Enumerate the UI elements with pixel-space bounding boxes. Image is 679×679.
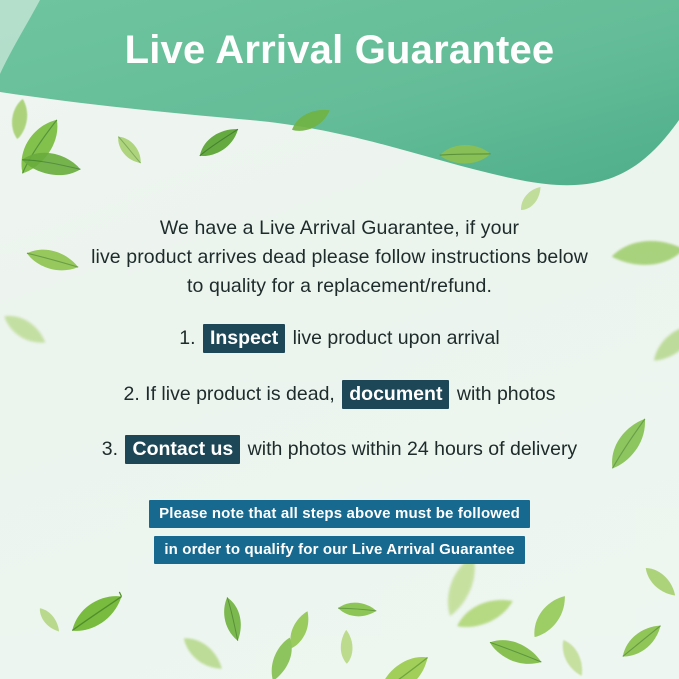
- step-1-after: live product upon arrival: [293, 327, 500, 349]
- step-3-after: with photos within 24 hours of delivery: [248, 438, 578, 460]
- intro-line-2: live product arrives dead please follow …: [60, 243, 619, 272]
- step-3-highlight: Contact us: [125, 435, 240, 464]
- step-1-number: 1.: [179, 327, 195, 349]
- step-item-3: 3. Contact us with photos within 24 hour…: [0, 436, 679, 462]
- intro-line-1: We have a Live Arrival Guarantee, if you…: [60, 214, 619, 243]
- intro-paragraph: We have a Live Arrival Guarantee, if you…: [60, 214, 619, 301]
- note-line-1: Please note that all steps above must be…: [149, 500, 530, 528]
- step-2-number: 2.: [123, 383, 139, 405]
- content-area: We have a Live Arrival Guarantee, if you…: [0, 0, 679, 679]
- page-title: Live Arrival Guarantee: [0, 30, 679, 70]
- note-line-2: in order to qualify for our Live Arrival…: [154, 536, 524, 564]
- step-1-highlight: Inspect: [203, 324, 285, 353]
- step-item-2: 2. If live product is dead, document wit…: [0, 381, 679, 407]
- step-2-after: with photos: [457, 383, 556, 405]
- step-2-highlight: document: [342, 380, 449, 409]
- step-3-number: 3.: [102, 438, 118, 460]
- step-2-before: If live product is dead,: [145, 383, 335, 405]
- note-banner: Please note that all steps above must be…: [0, 500, 679, 564]
- step-item-1: 1. Inspect live product upon arrival: [0, 325, 679, 351]
- live-arrival-guarantee-graphic: Live Arrival Guarantee: [0, 0, 679, 679]
- intro-line-3: to quality for a replacement/refund.: [60, 272, 619, 301]
